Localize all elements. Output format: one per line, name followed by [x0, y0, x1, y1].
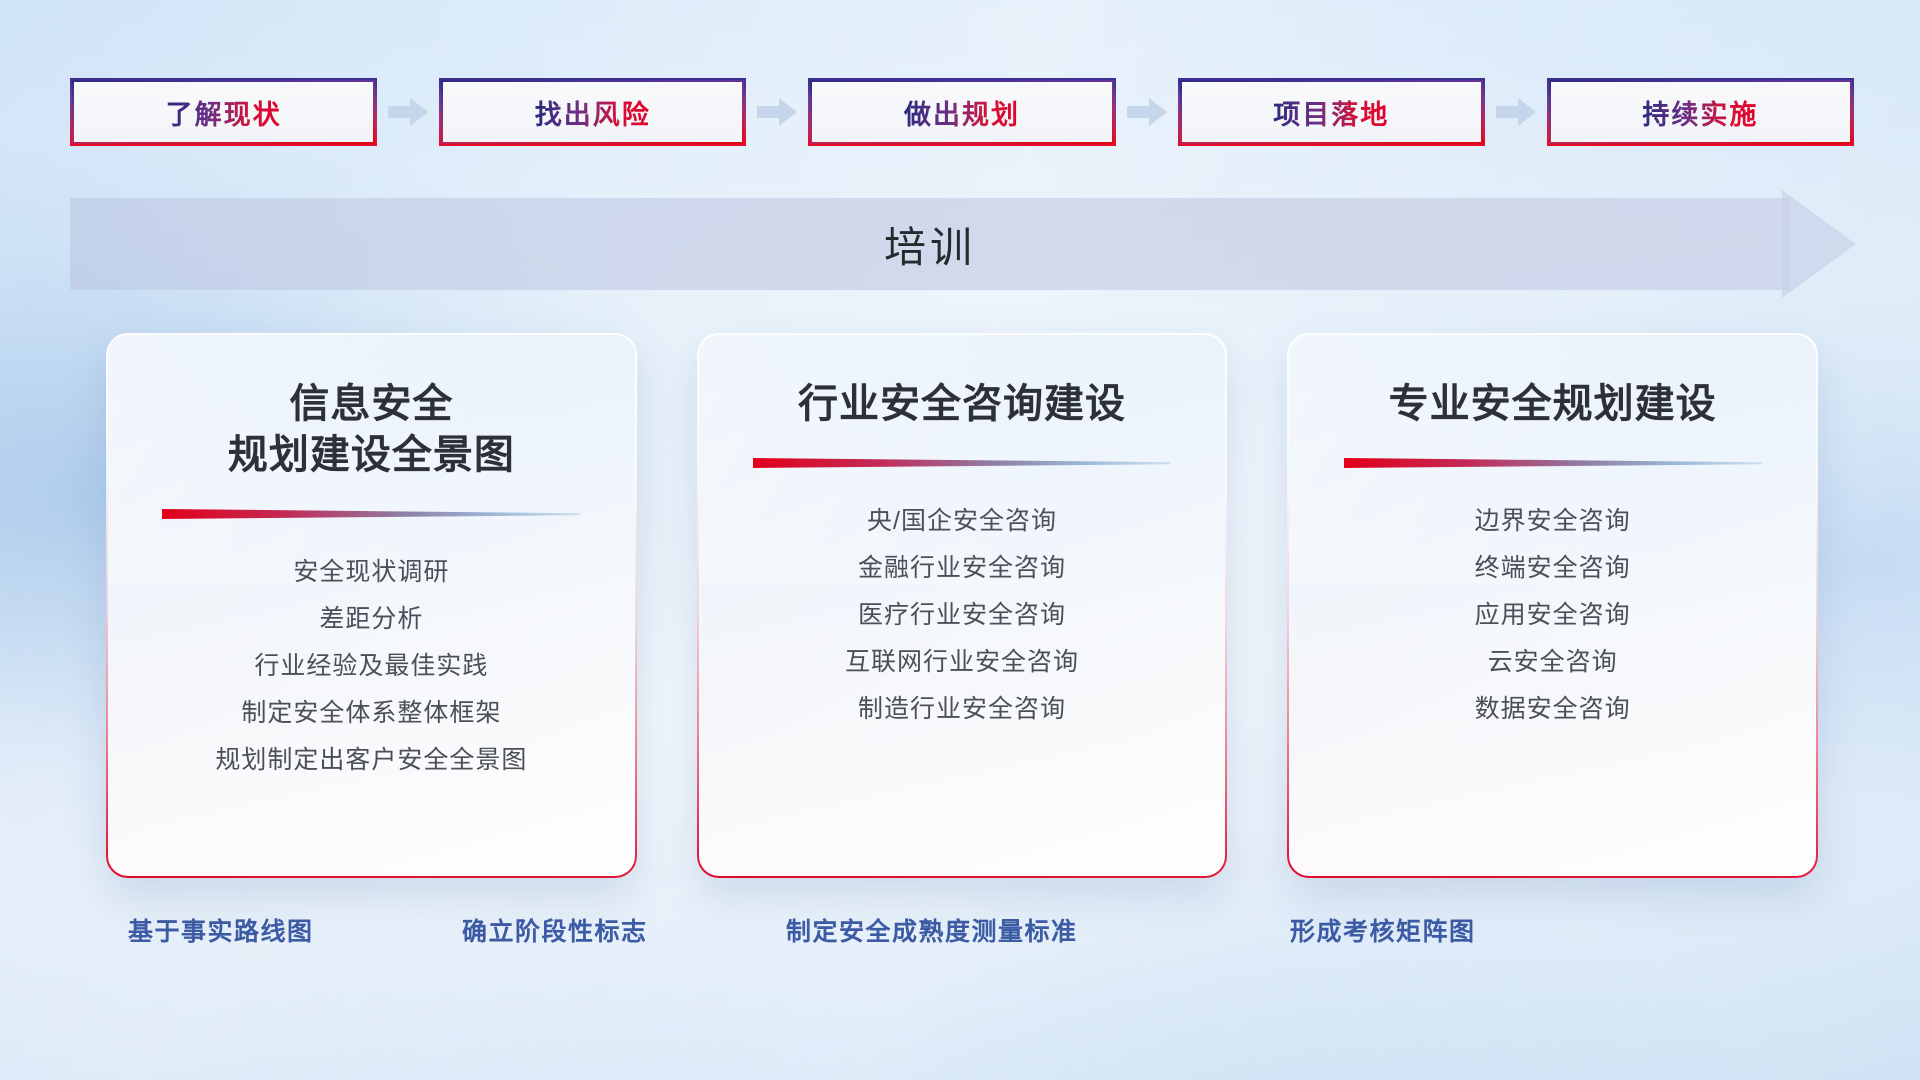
- card-row: 信息安全 规划建设全景图: [106, 333, 1818, 878]
- step-separator-3: [1116, 92, 1178, 132]
- card-divider: [753, 456, 1171, 470]
- slide-root: 了解现状 找出风险 做出规划 项目落地: [0, 0, 1920, 1080]
- list-item: 制造行业安全咨询: [725, 686, 1200, 733]
- list-item: 终端安全咨询: [1315, 545, 1790, 592]
- card-body: 信息安全 规划建设全景图: [108, 335, 635, 876]
- card-3[interactable]: 专业安全规划建设: [1287, 333, 1818, 878]
- gradient-rule-icon: [1344, 456, 1762, 470]
- arrow-right-icon: [1127, 97, 1167, 127]
- card-1[interactable]: 信息安全 规划建设全景图: [106, 333, 637, 878]
- step-label: 做出规划: [904, 93, 1020, 132]
- arrow-right-icon: [1496, 97, 1536, 127]
- gradient-rule-icon: [162, 507, 580, 521]
- card-divider: [1344, 456, 1762, 470]
- training-banner-arrow-tip: [1782, 190, 1856, 298]
- step-chip-4[interactable]: 项目落地: [1178, 78, 1485, 146]
- step-label: 找出风险: [535, 93, 651, 132]
- arrow-right-icon: [757, 97, 797, 127]
- card-body: 专业安全规划建设: [1289, 335, 1816, 876]
- list-item: 规划制定出客户安全全景图: [134, 737, 609, 784]
- gradient-rule-icon: [753, 456, 1171, 470]
- list-item: 医疗行业安全咨询: [725, 592, 1200, 639]
- card-title-line: 信息安全: [228, 379, 515, 430]
- arrow-right-icon: [388, 97, 428, 127]
- card-title-line: 专业安全规划建设: [1389, 379, 1717, 430]
- list-item: 金融行业安全咨询: [725, 545, 1200, 592]
- list-item: 安全现状调研: [134, 549, 609, 596]
- step-label: 持续实施: [1642, 93, 1758, 132]
- card-body: 行业安全咨询建设: [699, 335, 1226, 876]
- step-label: 项目落地: [1273, 93, 1389, 132]
- step-separator-2: [746, 92, 808, 132]
- step-chip-1[interactable]: 了解现状: [70, 78, 377, 146]
- step-chip-3[interactable]: 做出规划: [808, 78, 1115, 146]
- card-item-list: 央/国企安全咨询 金融行业安全咨询 医疗行业安全咨询 互联网行业安全咨询 制造行…: [725, 498, 1200, 733]
- footnote-3: 制定安全成熟度测量标准: [786, 912, 1078, 948]
- training-banner-title: 培训: [70, 198, 1790, 290]
- list-item: 差距分析: [134, 596, 609, 643]
- step-chip-5[interactable]: 持续实施: [1547, 78, 1854, 146]
- step-separator-4: [1485, 92, 1547, 132]
- footnote-2: 确立阶段性标志: [462, 912, 648, 948]
- footnote-4: 形成考核矩阵图: [1290, 912, 1476, 948]
- footnote-row: 基于事实路线图 确立阶段性标志 制定安全成熟度测量标准 形成考核矩阵图: [0, 912, 1920, 960]
- training-banner: 培训: [70, 198, 1854, 290]
- card-title-line: 规划建设全景图: [228, 430, 515, 481]
- footnote-1: 基于事实路线图: [128, 912, 314, 948]
- step-label: 了解现状: [166, 93, 282, 132]
- list-item: 互联网行业安全咨询: [725, 639, 1200, 686]
- step-chip-2[interactable]: 找出风险: [439, 78, 746, 146]
- card-title-line: 行业安全咨询建设: [798, 379, 1126, 430]
- step-flow-bar: 了解现状 找出风险 做出规划 项目落地: [70, 78, 1854, 146]
- list-item: 云安全咨询: [1315, 639, 1790, 686]
- list-item: 应用安全咨询: [1315, 592, 1790, 639]
- list-item: 央/国企安全咨询: [725, 498, 1200, 545]
- list-item: 数据安全咨询: [1315, 686, 1790, 733]
- card-title: 专业安全规划建设: [1389, 379, 1717, 430]
- card-title: 行业安全咨询建设: [798, 379, 1126, 430]
- card-item-list: 安全现状调研 差距分析 行业经验及最佳实践 制定安全体系整体框架 规划制定出客户…: [134, 549, 609, 784]
- card-title: 信息安全 规划建设全景图: [228, 379, 515, 481]
- list-item: 边界安全咨询: [1315, 498, 1790, 545]
- list-item: 行业经验及最佳实践: [134, 643, 609, 690]
- card-item-list: 边界安全咨询 终端安全咨询 应用安全咨询 云安全咨询 数据安全咨询: [1315, 498, 1790, 733]
- card-divider: [162, 507, 580, 521]
- card-2[interactable]: 行业安全咨询建设: [697, 333, 1228, 878]
- step-separator-1: [377, 92, 439, 132]
- list-item: 制定安全体系整体框架: [134, 690, 609, 737]
